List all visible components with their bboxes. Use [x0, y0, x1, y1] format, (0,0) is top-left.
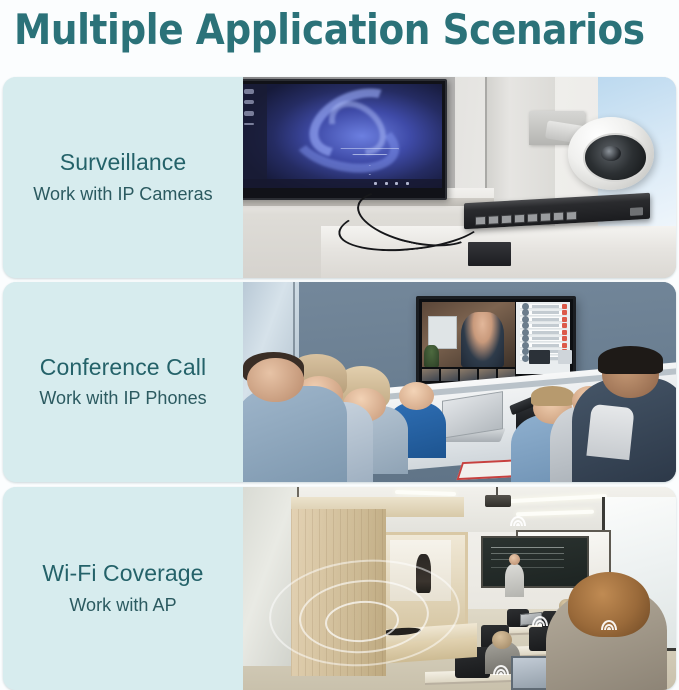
switch-ports	[475, 210, 577, 225]
monitor-screen	[243, 84, 442, 188]
video-thumbnail	[422, 369, 439, 382]
status-dot	[562, 330, 567, 335]
name-bar	[532, 344, 560, 347]
name-bar	[532, 331, 560, 334]
sidebar-icon	[244, 123, 253, 125]
status-dot	[562, 304, 567, 309]
attendee-hair	[531, 386, 574, 406]
attendee-head	[399, 382, 434, 410]
name-bar	[532, 305, 560, 308]
page-root: Multiple Application Scenarios Surveilla…	[0, 0, 679, 690]
status-dot	[562, 310, 567, 315]
attendee-foreground	[243, 386, 347, 482]
avatar	[522, 355, 529, 362]
card-title: Conference Call	[40, 353, 206, 382]
rj45-port	[540, 212, 551, 222]
page-title: Multiple Application Scenarios	[14, 0, 667, 58]
name-bar	[532, 311, 560, 314]
camera-lens	[583, 133, 648, 181]
rj45-port	[527, 213, 538, 223]
black-box	[468, 242, 511, 266]
card-label-wifi-coverage: Wi-Fi Coverage Work with AP	[3, 487, 243, 690]
rj45-port	[501, 214, 512, 224]
status-dot	[562, 323, 567, 328]
participant-row	[520, 324, 568, 329]
card-label-conference-call: Conference Call Work with IP Phones	[3, 282, 243, 482]
sidebar-icon	[244, 111, 253, 116]
card-title: Surveillance	[60, 148, 187, 177]
ceiling-projector	[485, 495, 511, 507]
teacher	[505, 564, 525, 596]
photo-conference-call	[243, 282, 676, 482]
attendee-shirt	[587, 404, 635, 460]
name-bar	[532, 324, 560, 327]
photo-wifi-coverage	[243, 487, 676, 690]
status-dot	[562, 343, 567, 348]
screen-sidebar	[243, 84, 267, 188]
rj45-port	[488, 215, 499, 225]
screen-taskbar	[243, 179, 442, 187]
taskbar-icon	[395, 182, 398, 185]
rj45-port	[514, 213, 525, 223]
rj45-port	[475, 216, 486, 226]
sidebar-icon	[244, 89, 253, 94]
attendee-head	[247, 358, 303, 402]
water-bottle	[416, 554, 431, 593]
card-subtitle: Work with IP Phones	[39, 388, 206, 409]
card-subtitle: Work with IP Cameras	[33, 184, 212, 205]
wood-cabinet	[291, 509, 386, 675]
rj45-port	[566, 210, 577, 220]
student-foreground-head	[568, 572, 650, 637]
sidebar-icon	[244, 100, 253, 105]
video-thumbnail	[441, 369, 458, 382]
sfp-port	[630, 207, 643, 216]
computer-monitor	[243, 79, 447, 200]
name-bar	[532, 337, 560, 340]
status-dot	[562, 317, 567, 322]
card-title: Wi-Fi Coverage	[42, 559, 203, 588]
feed-whiteboard	[428, 316, 458, 349]
scenario-card-surveillance: Surveillance Work with IP Cameras	[3, 77, 676, 278]
laptop	[520, 612, 542, 626]
video-main-feed	[422, 302, 515, 368]
participant-row	[520, 337, 568, 342]
card-subtitle: Work with AP	[69, 595, 176, 616]
scenario-card-wifi-coverage: Wi-Fi Coverage Work with AP	[3, 487, 676, 690]
taskbar-icon	[374, 182, 377, 185]
blackboard	[481, 536, 589, 589]
wall-mount-plate	[529, 350, 551, 364]
participant-row	[520, 311, 568, 316]
taskbar-icon	[406, 182, 409, 185]
attendee-hair	[598, 346, 663, 374]
feed-plant	[424, 345, 439, 367]
card-label-surveillance: Surveillance Work with IP Cameras	[3, 77, 243, 278]
taskbar-icon	[385, 182, 388, 185]
name-bar	[532, 318, 560, 321]
wall-switch-plate	[558, 350, 572, 364]
status-dot	[562, 336, 567, 341]
feed-presenter	[461, 312, 504, 367]
rj45-port	[553, 211, 564, 221]
photo-surveillance	[243, 77, 676, 278]
chalk-writing	[491, 547, 564, 548]
scenario-card-conference-call: Conference Call Work with IP Phones	[3, 282, 676, 482]
